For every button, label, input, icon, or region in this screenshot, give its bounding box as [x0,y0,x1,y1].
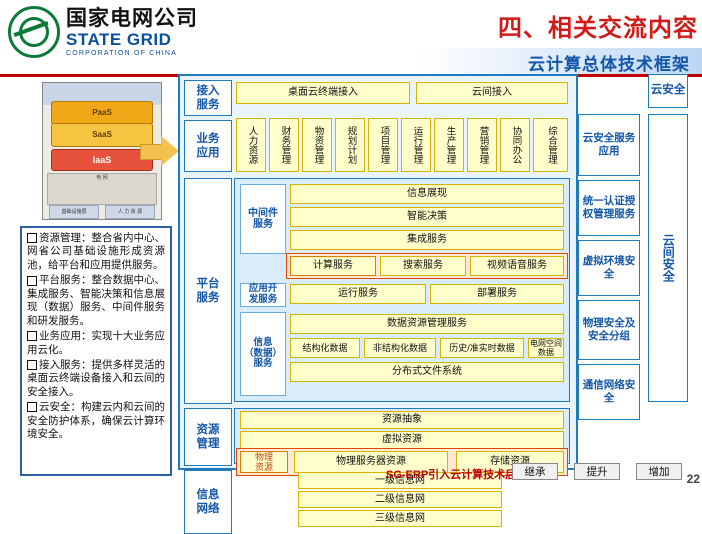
cloud-architecture-diagram: 接入 服务 桌面云终端接入 云间接入 业务 应用 人力资源 财务管理 物资管理 … [178,74,702,478]
business-item-marketing: 营销管理 [467,118,497,172]
business-item-hr: 人力资源 [236,118,266,172]
footer-button-inherit[interactable]: 继承 [512,463,558,480]
note-text: 平台服务：整合数据中心、集成服务、智能决策和信息展现（数据）服务、中间件服务和研… [27,274,165,326]
note-text: 业务应用：实现十大业务应用云化。 [27,330,165,355]
business-item-general: 综合管理 [533,118,568,172]
bullet-square-icon [27,402,37,412]
business-item-finance: 财务管理 [269,118,299,172]
platform-data-label: 信息 （数据） 服务 [240,312,286,396]
left-note-panel: 资源管理：整合省内中心、网省公司基础设施形成资源池，给平台和应用提供服务。 平台… [20,226,172,476]
security-item-cloud-service-app: 云安全服务应用 [578,114,640,176]
resource-item-abstraction: 资源抽象 [240,411,564,429]
business-item-collaboration: 协同办公 [500,118,530,172]
note-paragraph: 接入服务：提供多样灵活的桌面云终端设备接入和云间的安全接入。 [27,359,165,399]
business-item-material: 物资管理 [302,118,332,172]
logo-company-cn: 国家电网公司 [66,8,198,29]
note-text: 云安全：构建云内和云间的安全防护体系，确保云计算环境安全。 [27,401,165,440]
page-number: 22 [687,472,700,486]
network-item-level2: 二级信息网 [298,491,502,508]
security-item-physical-group: 物理安全及安全分组 [578,300,640,360]
platform-dev-item-deploy: 部署服务 [430,284,564,304]
platform-sub-item-search: 搜索服务 [380,256,466,276]
note-text: 资源管理：整合省内中心、网省公司基础设施形成资源池，给平台和应用提供服务。 [27,232,165,271]
security-item-unified-auth: 统一认证授权管理服务 [578,180,640,236]
platform-data-item-structured: 结构化数据 [290,338,360,358]
page-title: 四、相关交流内容 [498,8,698,43]
platform-sub-item-compute: 计算服务 [290,256,376,276]
flow-arrow-icon [140,136,180,166]
platform-data-item-history-realtime: 历史/准实时数据 [440,338,524,358]
bullet-square-icon [27,360,37,370]
note-paragraph: 业务应用：实现十大业务应用云化。 [27,330,165,357]
footer-note: SG-ERP引入云计算技术后 [386,466,516,482]
row-label-access-services: 接入 服务 [184,80,232,116]
footer-button-improve[interactable]: 提升 [574,463,620,480]
logo-company-en-sub: CORPORATION OF CHINA [66,50,198,57]
thumbnail-box-1: 基础设施层 [49,205,99,219]
bullet-square-icon [27,276,37,286]
access-item-inter-cloud: 云间接入 [416,82,568,104]
platform-dev-label: 应用开 发服务 [240,283,286,307]
state-grid-logo-icon [8,6,60,58]
security-column-label: 云间安全 [648,114,688,402]
thumbnail-iaas-block: IaaS [51,149,153,171]
note-paragraph: 资源管理：整合省内中心、网省公司基础设施形成资源池，给平台和应用提供服务。 [27,232,165,272]
platform-data-header: 数据资源管理服务 [290,314,564,334]
state-grid-logo: 国家电网公司 STATE GRID CORPORATION OF CHINA [8,6,258,58]
platform-data-item-grid-spatial: 电网空间数据 [528,338,564,358]
platform-dev-item-runtime: 运行服务 [290,284,426,304]
row-label-information-network: 信息 网络 [184,470,232,534]
arrow-head [161,136,179,166]
security-item-virtual-env: 虚拟环境安全 [578,240,640,296]
note-paragraph: 云安全：构建云内和云间的安全防护体系，确保云计算环境安全。 [27,401,165,441]
note-paragraph: 平台服务：整合数据中心、集成服务、智能决策和信息展现（数据）服务、中间件服务和研… [27,274,165,328]
security-item-network-comm: 通信网络安全 [578,364,640,420]
platform-middleware-label: 中间件 服务 [240,184,286,254]
platform-sub-item-video-voice: 视频语音服务 [470,256,564,276]
business-item-planning: 规划计划 [335,118,365,172]
logo-company-en: STATE GRID [66,31,198,48]
row-label-resource-management: 资源 管理 [184,408,232,466]
thumbnail-saas-block: SaaS [51,123,153,147]
platform-data-item-unstructured: 非结构化数据 [364,338,436,358]
row-label-business-applications: 业务 应用 [184,120,232,172]
access-item-desktop-cloud: 桌面云终端接入 [236,82,410,104]
platform-middleware-item-integration: 集成服务 [290,230,564,250]
footer-button-add[interactable]: 增加 [636,463,682,480]
arrow-tail [140,144,163,160]
bullet-square-icon [27,331,37,341]
thumbnail-paas-block: PaaS [51,101,153,125]
platform-middleware-item-display: 信息展现 [290,184,564,204]
business-item-operation: 运行管理 [401,118,431,172]
logo-text-block: 国家电网公司 STATE GRID CORPORATION OF CHINA [66,8,198,57]
thumbnail-box-2: 人 力 资 源 [105,205,155,219]
bullet-square-icon [27,233,37,243]
physical-resource-label: 物理 资源 [240,451,288,473]
page-subtitle: 云计算总体技术框架 [528,50,690,75]
resource-item-virtual: 虚拟资源 [240,431,564,449]
network-item-level3: 三级信息网 [298,510,502,527]
row-label-platform-services: 平台 服务 [184,178,232,404]
thumbnail-grid-area: 电 网 [47,173,157,205]
slide: 国家电网公司 STATE GRID CORPORATION OF CHINA 四… [0,0,702,486]
security-top-label: 云安全 [648,74,688,108]
note-text: 接入服务：提供多样灵活的桌面云终端设备接入和云间的安全接入。 [27,359,165,398]
thumbnail-grid-caption: 电 网 [48,174,156,181]
platform-middleware-item-decision: 智能决策 [290,207,564,227]
platform-data-footer: 分布式文件系统 [290,362,564,382]
business-item-project: 项目管理 [368,118,398,172]
business-item-production: 生产管理 [434,118,464,172]
